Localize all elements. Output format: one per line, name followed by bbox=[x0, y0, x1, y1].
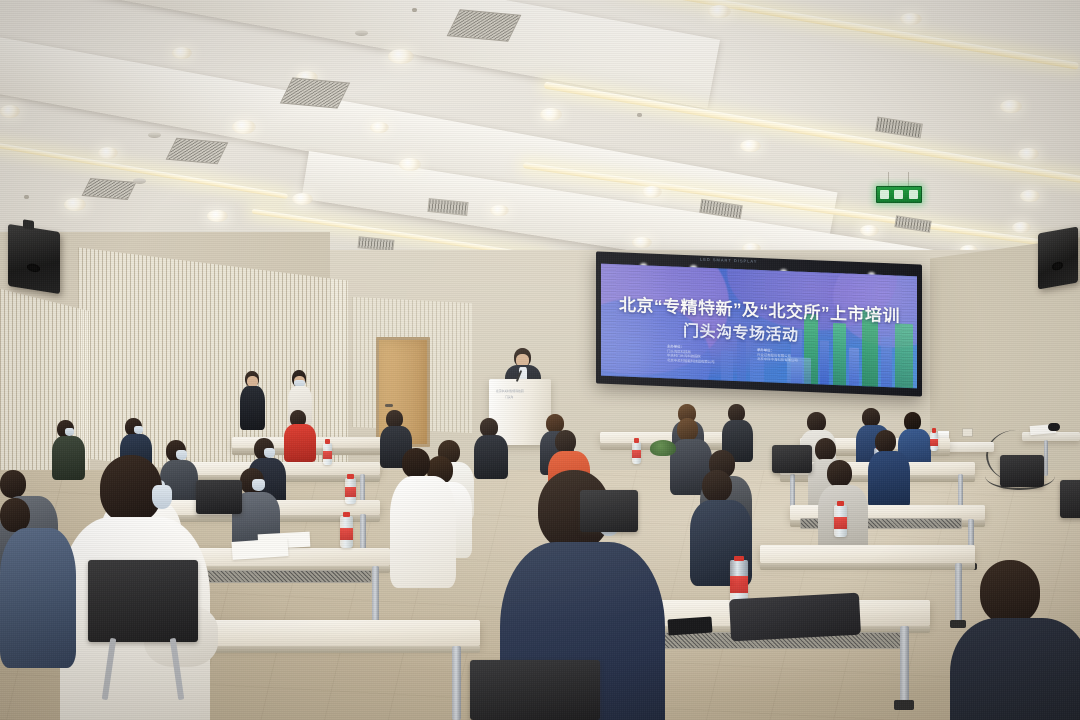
ceiling-downlight bbox=[370, 122, 389, 133]
screen-bezel-brand: LED SMART DISPLAY bbox=[700, 257, 757, 264]
desk-row1-left bbox=[180, 620, 480, 646]
smoke-detector-icon bbox=[355, 30, 368, 36]
attendee-head bbox=[555, 430, 576, 453]
attendee-head bbox=[815, 438, 836, 461]
attendee-torso bbox=[474, 435, 508, 479]
ceiling-downlight bbox=[1020, 190, 1040, 202]
ceiling-downlight bbox=[232, 120, 256, 134]
hvac-vent bbox=[280, 77, 350, 108]
speaker-cone-icon bbox=[27, 263, 41, 273]
desk-edge bbox=[180, 646, 480, 653]
exit-arrow-icon bbox=[909, 190, 918, 199]
smartphone[interactable] bbox=[667, 616, 712, 635]
tech-equipment bbox=[1048, 423, 1060, 431]
face-mask bbox=[65, 428, 74, 436]
desk-surface bbox=[760, 545, 975, 563]
slide-title-line2: 门头沟专场活动 bbox=[683, 317, 799, 346]
water-bottle bbox=[323, 443, 332, 465]
attendee-head bbox=[0, 470, 26, 498]
exit-sign-rod bbox=[908, 172, 909, 187]
door-handle[interactable] bbox=[385, 404, 393, 407]
attendee-head bbox=[980, 560, 1040, 624]
ceiling-downlight bbox=[740, 140, 761, 152]
ceiling-downlight bbox=[1018, 148, 1039, 160]
ceiling-downlight bbox=[399, 158, 421, 171]
attendee-head bbox=[807, 412, 826, 432]
face-mask bbox=[134, 426, 143, 434]
conference-room-photo: LED SMART DISPLAY 北京“专精特新”及“北交所”上市培训 bbox=[0, 0, 1080, 720]
chair-back-row bbox=[772, 445, 812, 473]
ceiling-downlight bbox=[1000, 100, 1022, 113]
decorative-plant bbox=[650, 440, 676, 456]
exit-running-man-icon bbox=[880, 190, 889, 199]
ceiling-downlight bbox=[490, 205, 509, 216]
skyline-building bbox=[721, 350, 733, 380]
hvac-vent bbox=[447, 9, 522, 41]
water-bottle bbox=[340, 516, 353, 548]
chair-back bbox=[470, 660, 600, 720]
bottle-cap bbox=[347, 474, 353, 479]
desk-foot bbox=[894, 700, 914, 710]
face-mask bbox=[176, 450, 187, 460]
desk-leg bbox=[900, 626, 909, 706]
wall-speaker-left bbox=[8, 224, 60, 294]
ceiling-downlight bbox=[172, 47, 192, 59]
attendee-head bbox=[875, 430, 896, 453]
desk-leg bbox=[372, 566, 379, 628]
hvac-vent bbox=[166, 138, 229, 165]
chair-mid-2 bbox=[1060, 480, 1080, 518]
attendee-head bbox=[677, 418, 698, 441]
face-mask bbox=[264, 448, 275, 458]
water-bottle bbox=[930, 432, 938, 451]
bottle-label bbox=[632, 450, 641, 458]
bottle-cap bbox=[325, 439, 330, 444]
speaker-cone-icon bbox=[1052, 262, 1062, 271]
attendee-torso bbox=[868, 451, 910, 509]
skyline-building bbox=[895, 323, 913, 388]
smoke-detector-icon bbox=[148, 132, 161, 138]
ceiling-downlight bbox=[98, 147, 118, 159]
chair-right-row bbox=[1000, 455, 1044, 487]
bottle-cap bbox=[837, 501, 844, 506]
attendee-torso bbox=[390, 476, 456, 588]
jacket-on-desk bbox=[729, 593, 861, 642]
ceiling-downlight bbox=[207, 210, 228, 222]
ceiling-downlight bbox=[1012, 222, 1031, 233]
chair-mid-1 bbox=[580, 490, 638, 532]
bottle-label bbox=[930, 439, 938, 446]
ceiling-downlight bbox=[0, 105, 20, 118]
attendee-head bbox=[702, 470, 732, 502]
attendee-torso bbox=[284, 424, 316, 462]
slide-credits-right: 承办单位： 兴业证券股份有限公司 北京中科中海科技有限公司 bbox=[757, 348, 798, 363]
bottle-label bbox=[834, 517, 847, 529]
bottle-label bbox=[340, 528, 353, 540]
attendee-head bbox=[402, 448, 430, 478]
exit-sign bbox=[876, 186, 922, 203]
desk-row2-right bbox=[760, 545, 975, 563]
chair-front-left bbox=[88, 560, 198, 670]
chair-back bbox=[580, 490, 638, 532]
wall-speaker-right bbox=[1038, 226, 1078, 289]
desk-leg bbox=[452, 646, 461, 720]
desk-foot bbox=[950, 620, 966, 628]
sprinkler-icon bbox=[637, 113, 642, 117]
ceiling-downlight bbox=[388, 49, 414, 64]
attendee-torso bbox=[240, 386, 265, 430]
bottle-label bbox=[345, 487, 356, 497]
skyline-building bbox=[820, 340, 829, 384]
ceiling-downlight bbox=[292, 193, 313, 205]
podium-nameplate-line1: 北京中关村智能科技园 bbox=[496, 389, 524, 393]
desk-leg bbox=[955, 563, 962, 625]
desk-surface bbox=[180, 620, 480, 646]
podium-nameplate-line2: 门头沟 bbox=[505, 395, 513, 399]
wall-outlet bbox=[962, 428, 973, 437]
skyline-building bbox=[737, 339, 746, 381]
chair-front-center bbox=[470, 660, 600, 720]
chair-mid-3 bbox=[196, 480, 242, 514]
slide-credit-item: 北京中科中海科技有限公司 bbox=[757, 357, 798, 363]
chair-back bbox=[88, 560, 198, 642]
face-mask bbox=[152, 485, 172, 509]
chair-back bbox=[1060, 480, 1080, 518]
ceiling-downlight bbox=[540, 108, 562, 121]
attendee-head bbox=[827, 460, 852, 487]
presentation-screen: 北京“专精特新”及“北交所”上市培训 门头沟专场活动 主办单位： 门头沟区科技局… bbox=[601, 264, 917, 389]
exit-door-icon bbox=[894, 190, 903, 199]
slide-credits-left: 主办单位： 门头沟区科技局 中关村门头沟科技园区 北京中关村智能科技园有限公司 bbox=[667, 344, 714, 364]
ceiling-downlight bbox=[900, 13, 922, 25]
sprinkler-icon bbox=[412, 8, 417, 12]
sprinkler-icon bbox=[24, 195, 29, 199]
exit-sign-rod bbox=[888, 172, 889, 187]
water-bottle bbox=[345, 478, 356, 504]
bottle-label bbox=[323, 451, 332, 459]
desk-edge bbox=[760, 563, 975, 570]
ceiling-downlight bbox=[708, 5, 731, 18]
skyline-building bbox=[849, 348, 859, 386]
bottle-cap bbox=[734, 556, 744, 561]
chair-back bbox=[196, 480, 242, 514]
bottle-label bbox=[730, 576, 748, 593]
ceiling-downlight bbox=[632, 237, 652, 248]
attendee-torso bbox=[52, 436, 85, 480]
attendee-head bbox=[0, 498, 30, 532]
bottle-cap bbox=[932, 428, 936, 433]
chair-back bbox=[772, 445, 812, 473]
attendee-torso bbox=[0, 528, 76, 668]
ceiling-downlight bbox=[860, 225, 879, 236]
speaker-mount bbox=[23, 219, 34, 230]
bottle-cap bbox=[343, 512, 350, 517]
chair-back bbox=[1000, 455, 1044, 487]
face-mask bbox=[252, 479, 265, 491]
smoke-detector-icon bbox=[133, 178, 146, 184]
ceiling-downlight bbox=[642, 186, 662, 198]
bottle-cap bbox=[634, 438, 639, 443]
ceiling-downlight bbox=[64, 198, 86, 211]
skyline-building bbox=[881, 337, 892, 387]
water-bottle bbox=[834, 505, 847, 537]
skyline-building bbox=[833, 323, 846, 386]
attendee-torso bbox=[950, 618, 1080, 720]
water-bottle bbox=[632, 442, 641, 464]
water-bottle bbox=[730, 560, 748, 604]
